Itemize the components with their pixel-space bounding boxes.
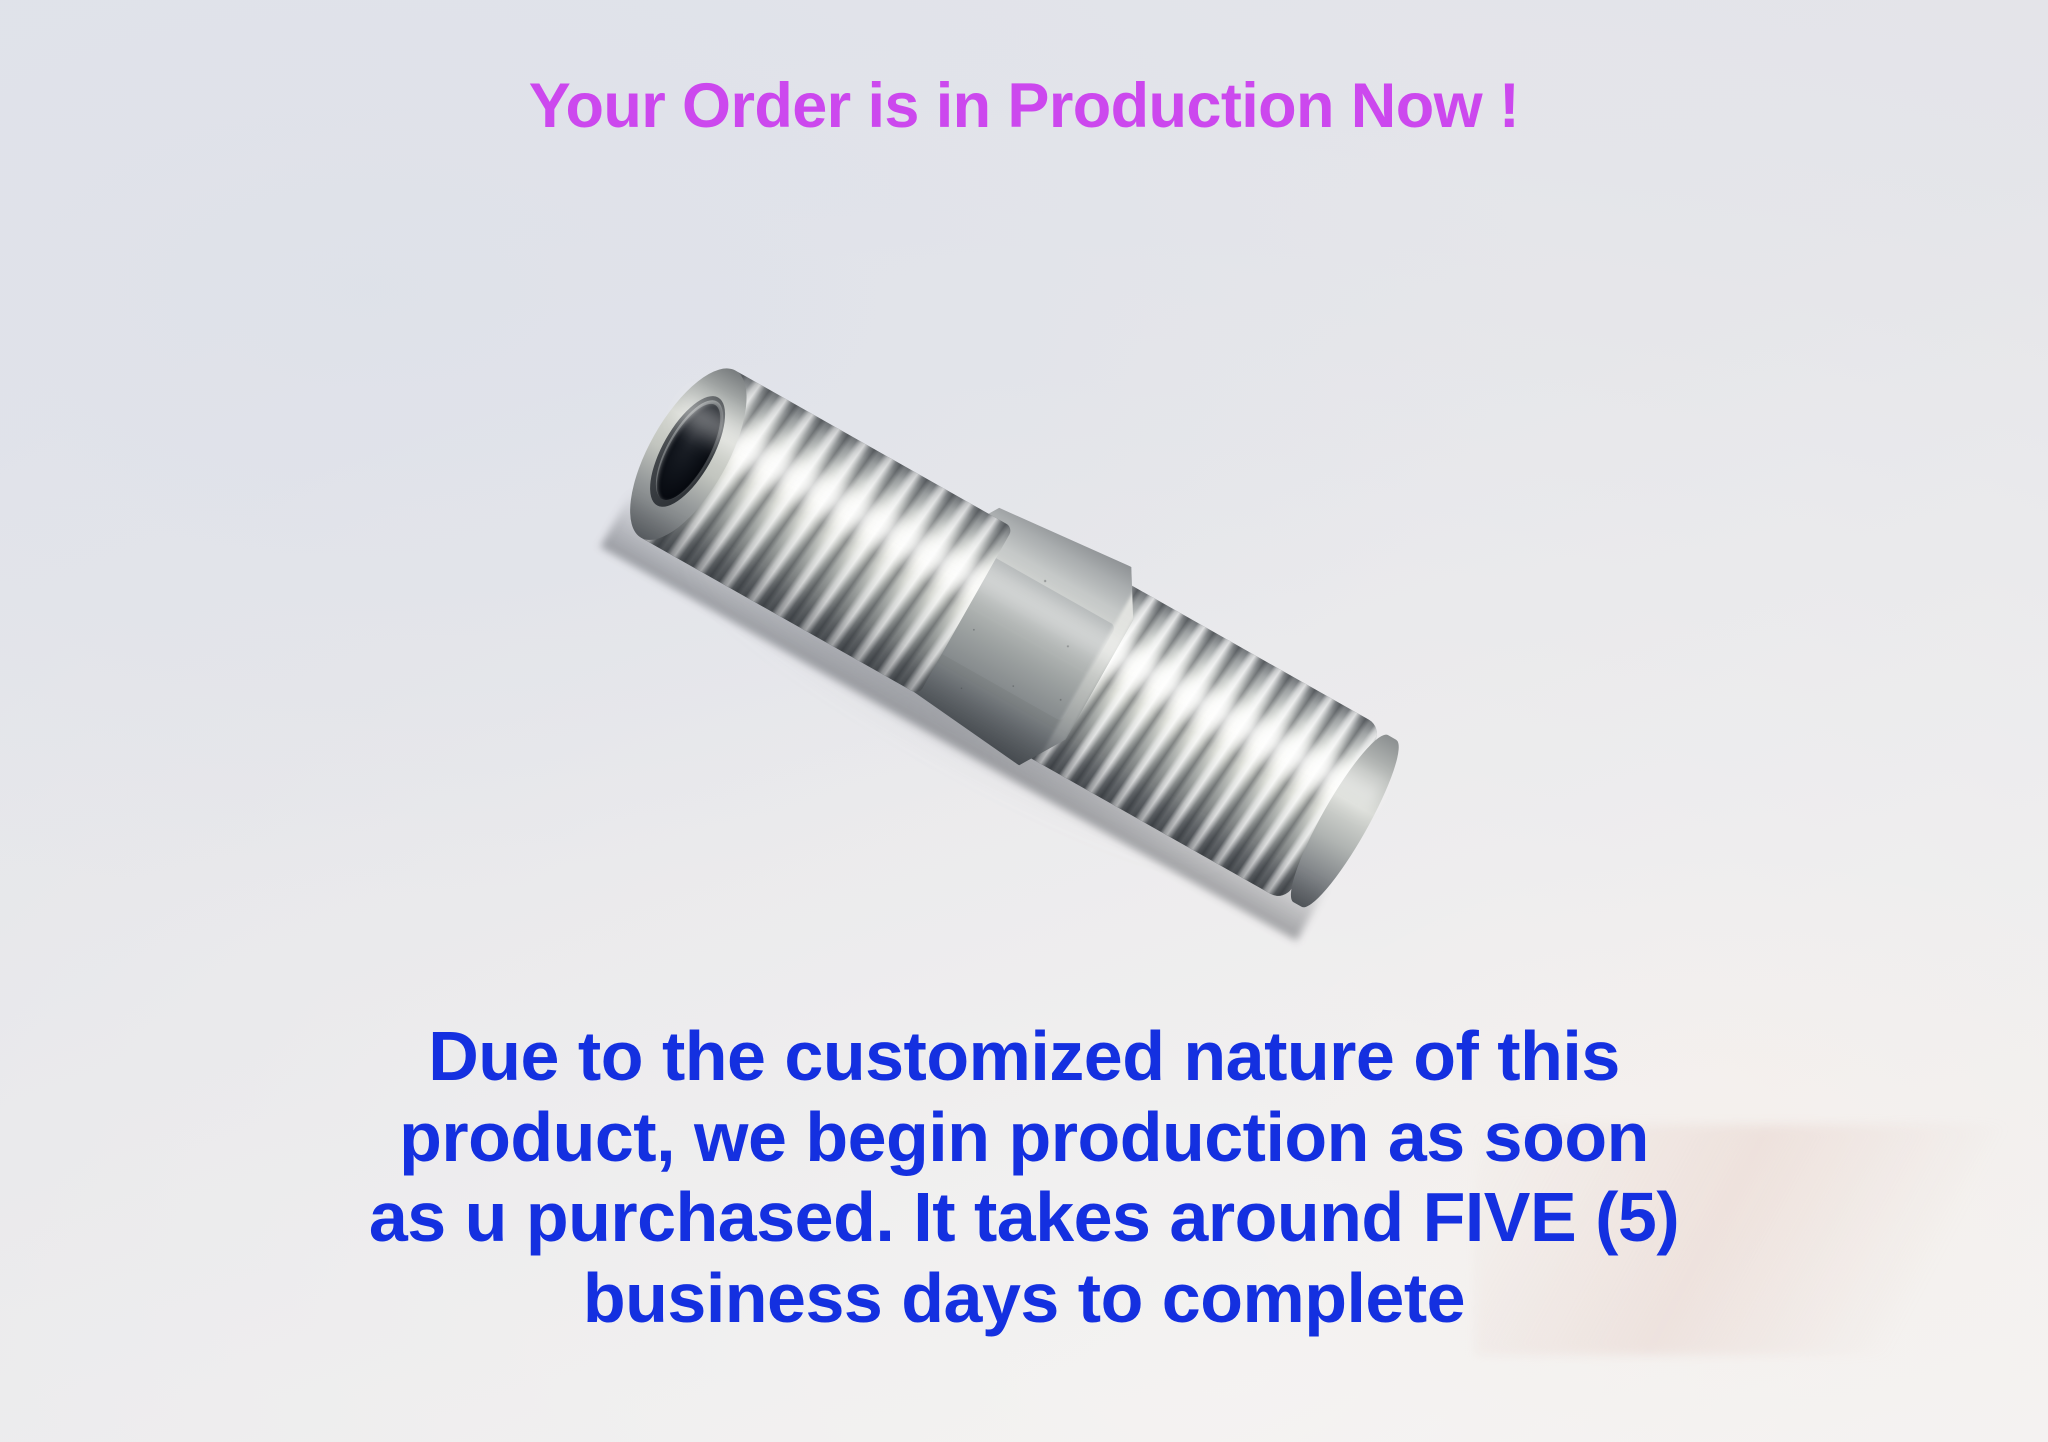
body-copy: Due to the customized nature of this pro… <box>60 1016 1988 1338</box>
headline-text: Your Order is in Production Now ! <box>0 72 2048 140</box>
notice-banner: Your Order is in Production Now ! <box>0 0 2048 1442</box>
product-photo <box>0 210 2048 1030</box>
body-line-1: Due to the customized nature of this <box>60 1016 1988 1097</box>
body-line-2: product, we begin production as soon <box>60 1097 1988 1178</box>
body-line-4: business days to complete <box>60 1258 1988 1339</box>
body-line-3: as u purchased. It takes around FIVE (5) <box>60 1177 1988 1258</box>
hex-pipe-nipple-illustration <box>600 329 1419 941</box>
